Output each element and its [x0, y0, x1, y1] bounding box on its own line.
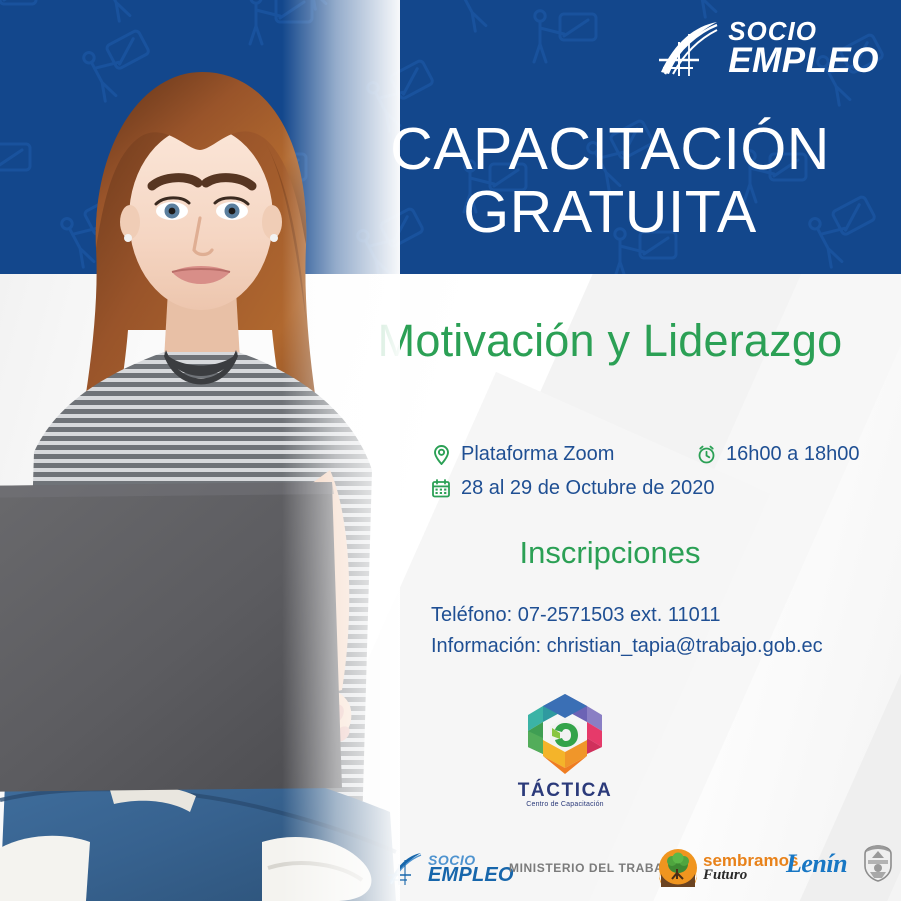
headline-line-2: GRATUITA: [330, 181, 890, 244]
tactica-cube-icon: [522, 690, 608, 778]
contact-email: Información: christian_tapia@trabajo.gob…: [431, 631, 901, 662]
calendar-icon: [431, 478, 451, 500]
ear-right: [262, 205, 282, 239]
footer-ecuador-coat-of-arms: [862, 842, 894, 887]
detail-row: Plataforma Zoom 16h00 a 18h00: [431, 440, 861, 469]
ecuador-coat-of-arms-icon: [862, 842, 894, 882]
tactica-subtitle: Centro de Capacitación: [505, 801, 625, 808]
alarm-clock-icon: [696, 444, 716, 466]
headline: CAPACITACIÓN GRATUITA: [330, 118, 890, 243]
detail-row: 28 al 29 de Octubre de 2020: [431, 474, 861, 503]
footer-ministry-label: MINISTERIO DEL TRABAJO: [509, 861, 681, 875]
socio-empleo-swoosh-icon: [388, 853, 422, 885]
location-pin-icon: [431, 444, 451, 466]
tree-circle-icon: [659, 849, 697, 887]
detail-date-label: 28 al 29 de Octubre de 2020: [461, 477, 715, 500]
footer-sembramos-logo: sembramos Futuro: [659, 849, 798, 887]
footer-bar: SOCIO EMPLEO MINISTERIO DEL TRABAJO semb…: [0, 835, 901, 901]
laptop: [0, 482, 342, 792]
earring-right: [270, 234, 278, 242]
poster-canvas: SOCIO EMPLEO CAPACITACIÓN GRATUITA Motiv…: [0, 0, 901, 901]
registration-contact: Teléfono: 07-2571503 ext. 11011 Informac…: [431, 600, 901, 662]
course-title: Motivación y Liderazgo: [330, 315, 890, 367]
detail-platform-label: Plataforma Zoom: [461, 443, 614, 466]
footer-socio-empleo-logo: SOCIO EMPLEO: [388, 853, 514, 885]
sembramos-line-2: Futuro: [703, 869, 798, 883]
tactica-logo: TÁCTICA Centro de Capacitación: [505, 690, 625, 808]
footer-lenin-signature: Lenín: [786, 849, 847, 879]
detail-time-label: 16h00 a 18h00: [726, 443, 859, 466]
socio-empleo-logo-top: SOCIO EMPLEO: [659, 20, 879, 77]
detail-time: 16h00 a 18h00: [696, 443, 859, 466]
socio-empleo-swoosh-icon: [659, 22, 719, 76]
tactica-name: TÁCTICA: [505, 780, 625, 802]
headline-line-1: CAPACITACIÓN: [330, 118, 890, 181]
earring-left: [124, 234, 132, 242]
logo-line-2: EMPLEO: [728, 45, 879, 77]
detail-platform: Plataforma Zoom: [431, 443, 696, 466]
detail-date: 28 al 29 de Octubre de 2020: [431, 477, 715, 500]
footer-logo-line-2: EMPLEO: [428, 866, 514, 884]
registration-title: Inscripciones: [330, 535, 890, 571]
event-details: Plataforma Zoom 16h00 a 18h00: [431, 440, 861, 503]
contact-phone: Teléfono: 07-2571503 ext. 11011: [431, 600, 901, 631]
ear-left: [120, 205, 140, 239]
